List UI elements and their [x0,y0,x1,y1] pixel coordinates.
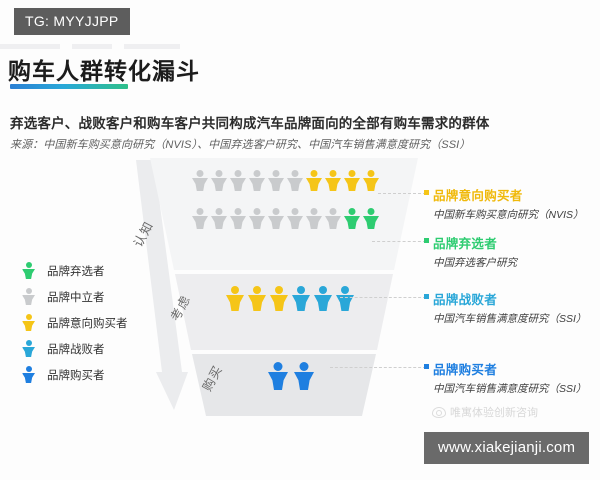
annotation-title: 品牌弃选者 [433,233,517,252]
scan-artifact [72,44,112,49]
person-body [211,216,227,229]
person-body [192,178,208,191]
person-body [268,372,288,390]
weibo-watermark-text: 唯寓体验创新咨询 [450,404,538,420]
legend-item-4: 品牌战败者 [22,336,128,362]
person-icon-neutral [192,208,208,229]
annotation-subtitle: 中国弃选客户研究 [433,255,517,270]
person-icon [22,288,38,306]
annotation-buyer: 品牌购买者 中国汽车销售满意度研究（SSI） [433,359,586,396]
person-icon-neutral [230,208,246,229]
legend-item-3: 品牌意向购买者 [22,310,128,336]
person-icon-yellow [363,170,379,191]
person-head [253,286,261,294]
legend: 品牌弃选者品牌中立者品牌意向购买者品牌战败者品牌购买者 [22,258,128,388]
person-body [325,216,341,229]
person-icon [22,262,35,279]
person-body [314,295,332,311]
weibo-logo-icon [432,407,446,418]
person-head [26,340,32,346]
person-head [349,170,356,177]
person-icon-neutral [287,170,303,191]
person-head [319,286,327,294]
person-head [292,208,299,215]
person-head [297,286,305,294]
person-icon [22,314,38,332]
person-icon-neutral [249,208,265,229]
legend-item-label: 品牌战败者 [47,341,105,357]
people-row-awareness-2 [192,208,379,229]
person-head [197,208,204,215]
funnel-chart: 认知 考虑 购买 [150,158,418,408]
person-body [249,178,265,191]
connector-dot-1 [424,190,429,195]
person-head [197,170,204,177]
legend-item-5: 品牌购买者 [22,362,128,388]
person-head [330,208,337,215]
person-head [216,170,223,177]
annotation-subtitle: 中国汽车销售满意度研究（SSI） [433,311,586,326]
person-body [230,178,246,191]
person-head [26,262,32,268]
annotation-title: 品牌意向购买者 [433,185,584,204]
person-head [292,170,299,177]
person-head [368,208,375,215]
person-body [287,178,303,191]
person-icon-neutral [249,170,265,191]
person-icon-neutral [211,208,227,229]
person-head [254,208,261,215]
person-head [216,208,223,215]
person-icon-neutral [192,170,208,191]
person-icon-yellow [344,170,360,191]
person-body [211,178,227,191]
person-icon [22,366,35,383]
connector-line-2 [372,241,426,243]
person-head [311,208,318,215]
connector-line-1 [378,193,426,195]
screenshot-canvas: TG: MYYJJPP 购车人群转化漏斗 弃选客户、战败客户和购车客户共同构成汽… [0,0,600,480]
person-head [349,208,356,215]
person-icon-neutral [268,208,284,229]
person-head [273,208,280,215]
person-icon-blue [294,362,314,390]
page-title: 购车人群转化漏斗 [8,52,200,86]
person-head [26,288,32,294]
person-body [344,216,360,229]
person-head [273,170,280,177]
person-body [268,178,284,191]
person-body [248,295,266,311]
person-icon [22,288,35,305]
person-body [192,216,208,229]
person-body [22,347,35,357]
site-watermark: www.xiakejianji.com [424,432,589,464]
annotation-subtitle: 中国新车购买意向研究（NVIS） [433,207,584,222]
person-body [294,372,314,390]
person-head [300,362,309,371]
person-icon-neutral [325,208,341,229]
tg-tag: TG: MYYJJPP [14,8,130,35]
person-icon-yellow [325,170,341,191]
title-accent-bar [10,84,128,89]
person-body [363,178,379,191]
person-icon-teal [314,286,332,311]
legend-item-label: 品牌中立者 [47,289,105,305]
person-icon-blue [268,362,288,390]
annotation-lost-customer: 品牌战败者 中国汽车销售满意度研究（SSI） [433,289,586,326]
legend-item-label: 品牌购买者 [47,367,105,383]
person-icon-green [363,208,379,229]
person-head [254,170,261,177]
annotation-subtitle: 中国汽车销售满意度研究（SSI） [433,381,586,396]
person-icon-yellow [306,170,322,191]
person-body [249,216,265,229]
person-icon-neutral [287,208,303,229]
person-body [344,178,360,191]
person-body [292,295,310,311]
scan-artifact [124,44,180,49]
person-icon-teal [292,286,310,311]
person-head [231,286,239,294]
person-body [230,216,246,229]
person-head [235,208,242,215]
connector-line-3 [340,297,426,299]
subtitle: 弃选客户、战败客户和购车客户共同构成汽车品牌面向的全部有购车需求的群体 [10,112,490,132]
person-icon [22,366,38,384]
legend-item-label: 品牌意向购买者 [47,315,128,331]
person-head [368,170,375,177]
person-body [22,269,35,279]
connector-dot-2 [424,238,429,243]
person-icon-neutral [268,170,284,191]
legend-item-1: 品牌弃选者 [22,258,128,284]
person-head [311,170,318,177]
person-body [268,216,284,229]
legend-item-label: 品牌弃选者 [47,263,105,279]
person-head [341,286,349,294]
annotation-intended-buyer: 品牌意向购买者 中国新车购买意向研究（NVIS） [433,185,584,222]
annotation-title: 品牌战败者 [433,289,586,308]
person-head [235,170,242,177]
person-icon [22,340,38,358]
people-row-purchase [268,362,314,390]
person-body [22,295,35,305]
person-body [325,178,341,191]
person-body [306,216,322,229]
person-body [22,321,35,331]
person-icon-yellow [248,286,266,311]
person-head [274,362,283,371]
person-icon-neutral [306,208,322,229]
person-body [226,295,244,311]
connector-dot-3 [424,294,429,299]
person-icon-yellow [270,286,288,311]
annotation-rejecter: 品牌弃选者 中国弃选客户研究 [433,233,517,270]
connector-line-4 [330,367,426,369]
person-icon-neutral [230,170,246,191]
legend-item-2: 品牌中立者 [22,284,128,310]
person-icon-neutral [211,170,227,191]
person-icon [22,314,35,331]
connector-dot-4 [424,364,429,369]
person-icon-yellow [226,286,244,311]
person-body [287,216,303,229]
source-note: 来源：中国新车购买意向研究（NVIS）、中国弃选客户研究、中国汽车销售满意度研究… [10,136,470,152]
person-body [270,295,288,311]
weibo-watermark: 唯寓体验创新咨询 [432,404,538,420]
person-icon [22,340,35,357]
person-body [22,373,35,383]
people-row-awareness-1 [192,170,379,191]
person-icon-green [344,208,360,229]
person-body [306,178,322,191]
person-head [26,314,32,320]
person-head [26,366,32,372]
people-row-consideration [226,286,354,311]
person-head [330,170,337,177]
person-body [363,216,379,229]
annotation-title: 品牌购买者 [433,359,586,378]
person-icon [22,262,38,280]
scan-artifact [0,44,60,49]
person-head [275,286,283,294]
